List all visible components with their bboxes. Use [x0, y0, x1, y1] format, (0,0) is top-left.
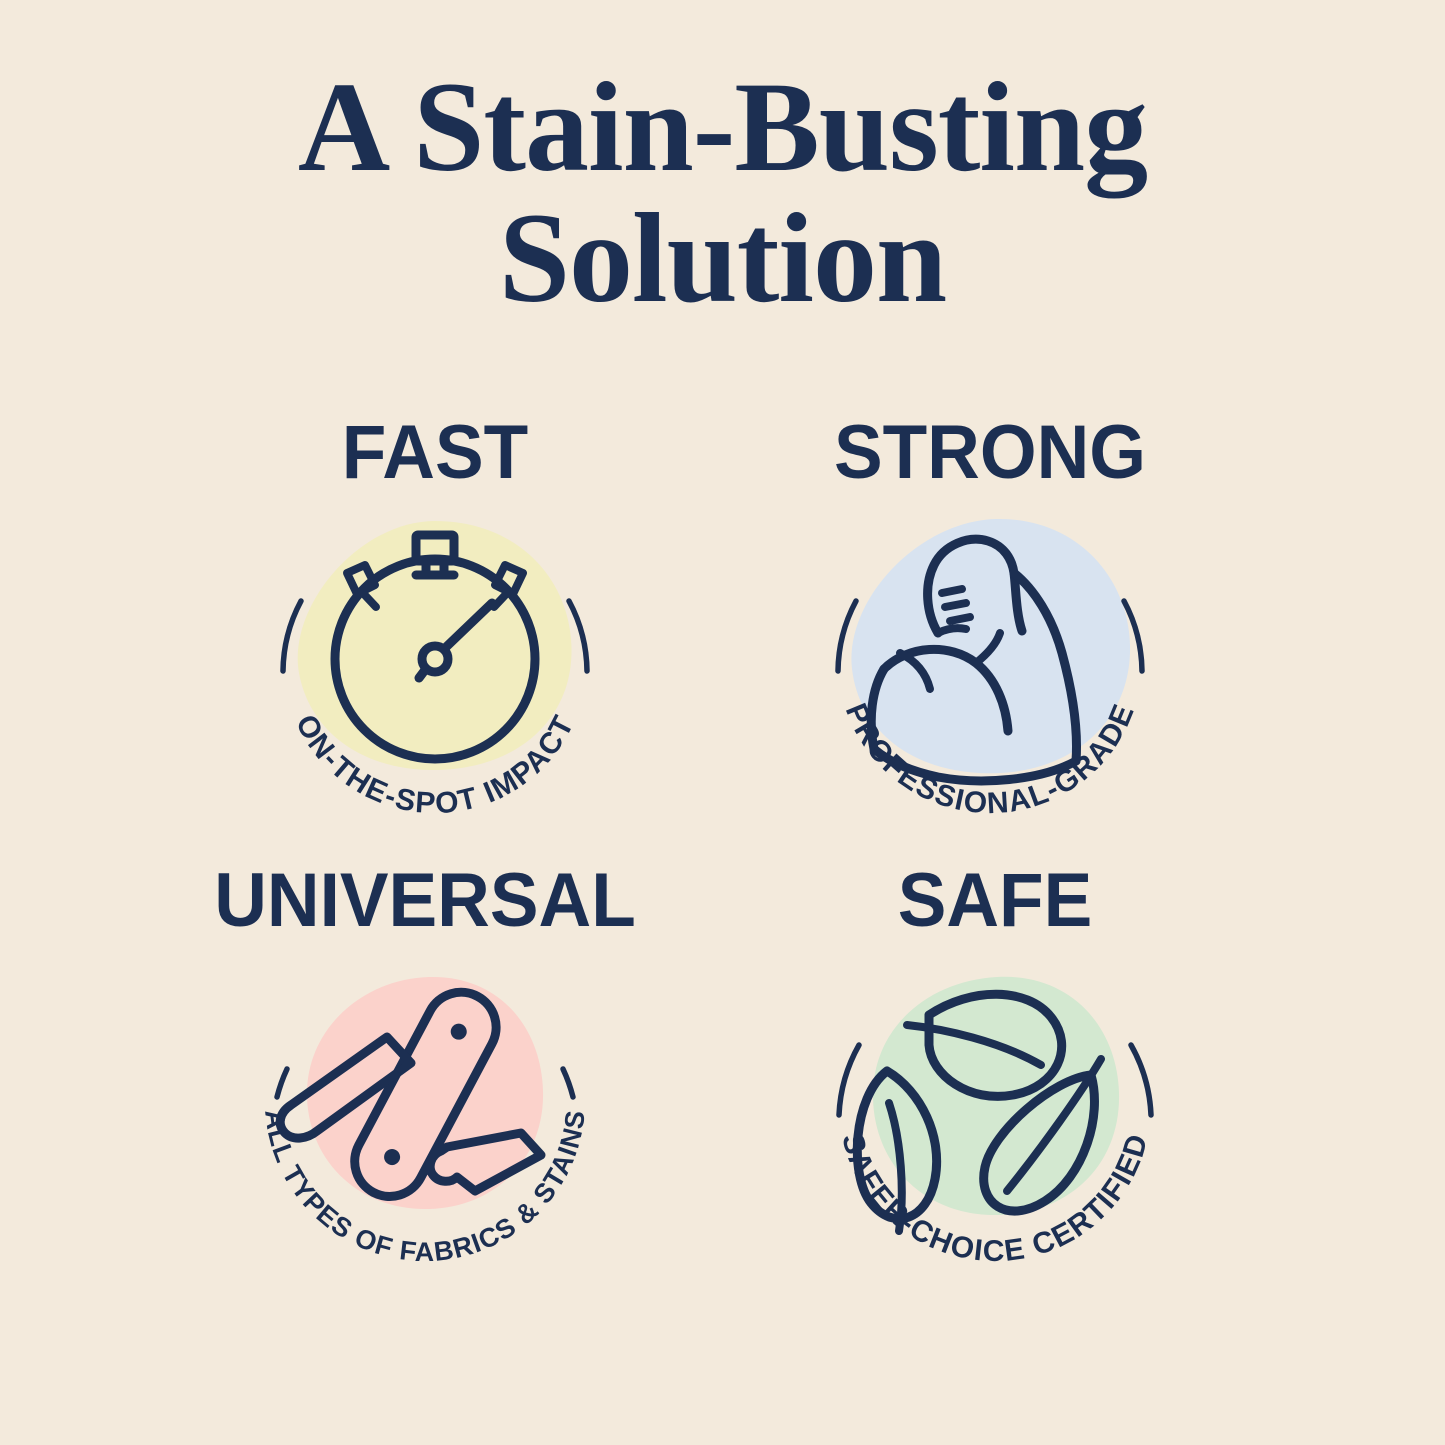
- product-feature-poster: A Stain-Busting Solution FAST: [0, 0, 1445, 1445]
- feature-badge-strong: STRONG: [740, 415, 1240, 835]
- badge-art-fast: ON-THE-SPOT IMPACT: [235, 493, 635, 835]
- badge-title-strong: STRONG: [750, 415, 1230, 491]
- page-title-line-1: A Stain-Busting: [0, 62, 1445, 193]
- feature-badge-safe: SAFE: [745, 863, 1245, 1283]
- badge-ring-arc-left: [839, 1045, 859, 1115]
- page-title-line-2: Solution: [0, 193, 1445, 324]
- badge-ring-arc-right: [1131, 1045, 1151, 1115]
- badge-ring-arc-right: [569, 601, 587, 671]
- badge-art-safe: SAFER-CHOICE CERTIFIED: [795, 941, 1195, 1283]
- badge-title-fast: FAST: [195, 415, 675, 491]
- badge-art-strong: PROFESSIONAL-GRADE: [790, 493, 1190, 835]
- badge-ring-dash-right: [563, 1069, 573, 1097]
- badge-title-safe: SAFE: [755, 863, 1235, 939]
- badge-ring-dash-left: [277, 1069, 287, 1097]
- badge-art-universal: ALL TYPES OF FABRICS & STAINS: [225, 941, 625, 1283]
- page-title: A Stain-Busting Solution: [0, 62, 1445, 323]
- feature-badge-fast: FAST: [185, 415, 685, 835]
- feature-badge-universal: UNIVERSAL: [175, 863, 675, 1283]
- badge-title-universal: UNIVERSAL: [185, 863, 665, 939]
- feature-badge-grid: FAST: [0, 415, 1445, 1375]
